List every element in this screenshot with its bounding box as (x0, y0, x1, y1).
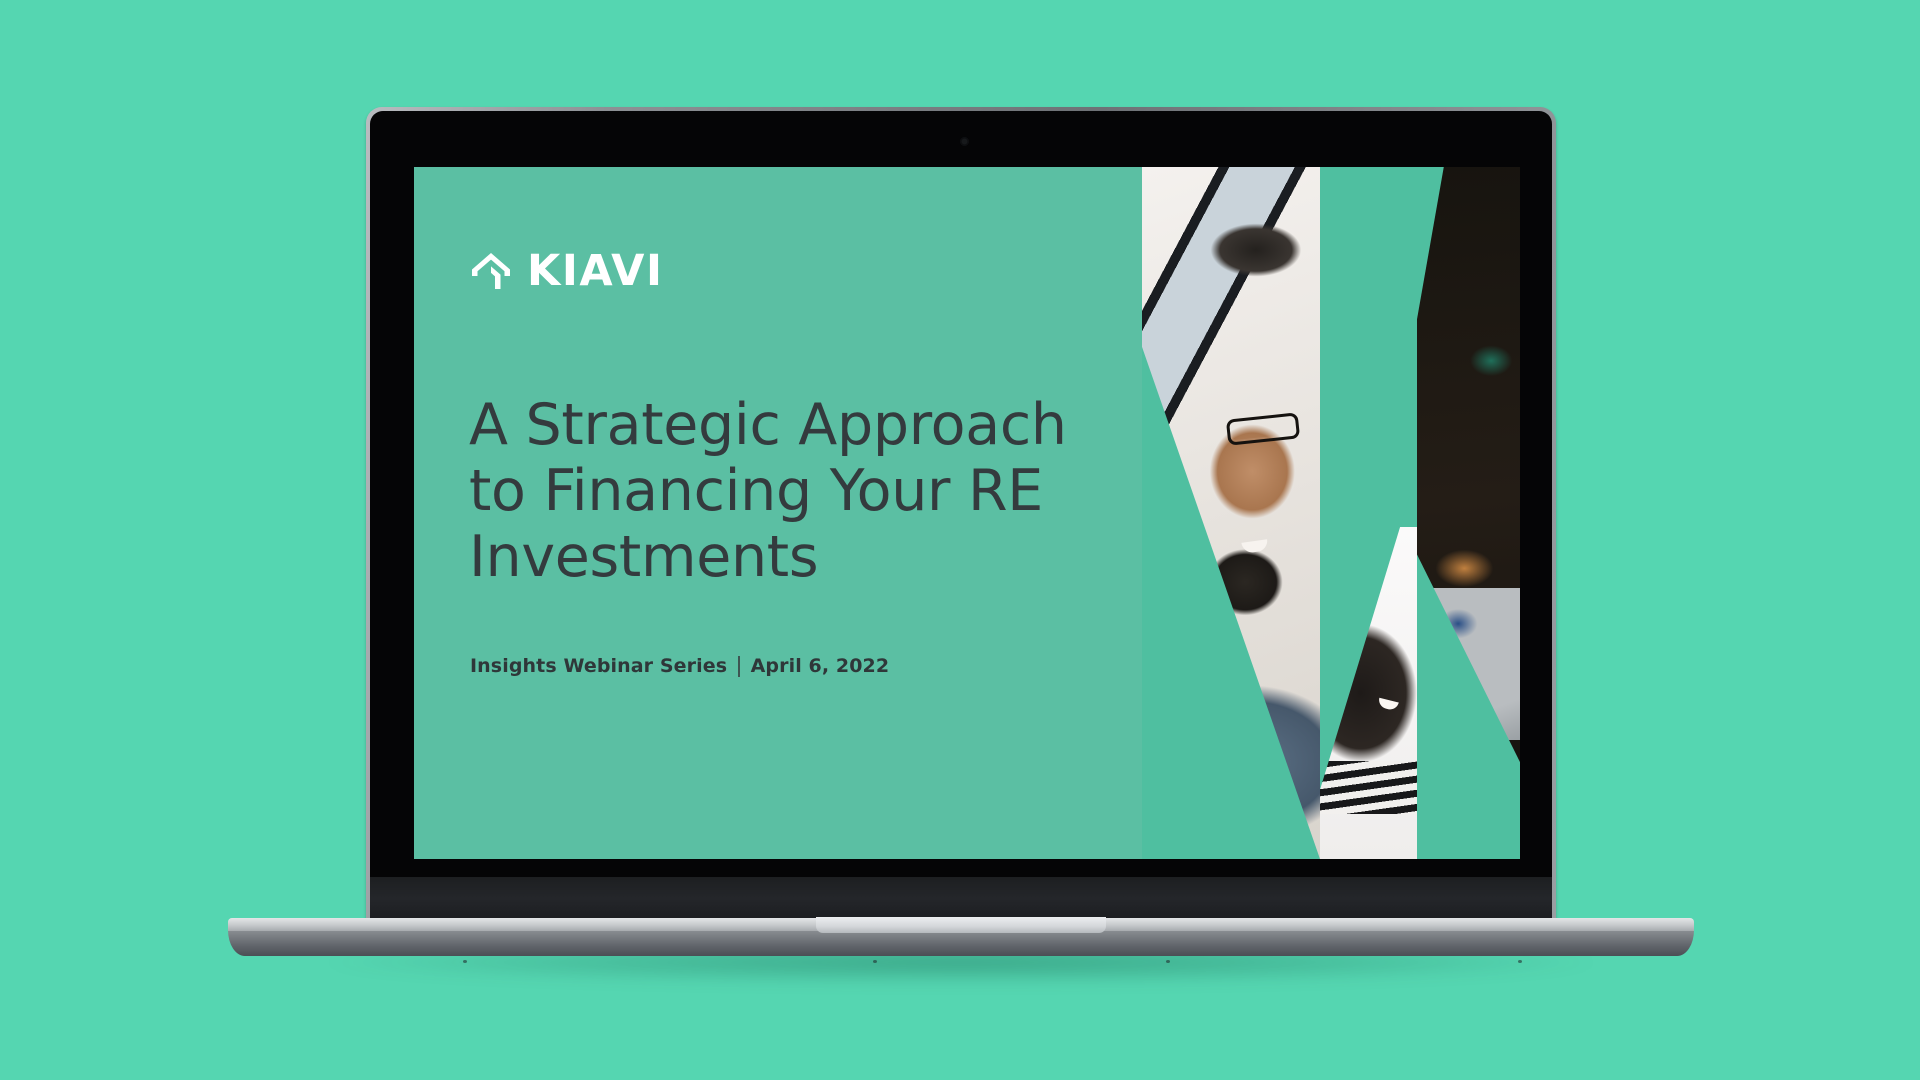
webinar-series-label: Insights Webinar Series (470, 655, 727, 677)
slide-subtitle: Insights Webinar Series April 6, 2022 (470, 655, 889, 677)
laptop-device: KIAVI A Strategic Approach to Financing … (366, 107, 1556, 925)
photo-collage (1142, 167, 1520, 859)
brand-logo: KIAVI (469, 249, 663, 293)
home-icon (469, 249, 513, 293)
webcam-icon (960, 137, 969, 146)
slide-title: A Strategic Approach to Financing Your R… (469, 392, 1109, 590)
screenshot-stage: KIAVI A Strategic Approach to Financing … (0, 0, 1920, 1080)
laptop-base-body (228, 930, 1694, 956)
man-with-tablet-photo (1142, 167, 1320, 859)
laptop-base (228, 918, 1694, 962)
laptop-lid: KIAVI A Strategic Approach to Financing … (366, 107, 1556, 925)
webinar-date-label: April 6, 2022 (751, 655, 890, 677)
subtitle-divider (738, 656, 740, 677)
laptop-screen: KIAVI A Strategic Approach to Financing … (414, 167, 1520, 859)
laptop-bezel: KIAVI A Strategic Approach to Financing … (370, 111, 1552, 925)
slide-text-panel: KIAVI A Strategic Approach to Financing … (414, 167, 1142, 859)
brand-wordmark: KIAVI (527, 250, 663, 293)
laptop-base-top (228, 918, 1694, 931)
base-foot (463, 960, 467, 963)
base-foot (873, 960, 877, 963)
workshop-tools-photo (1417, 167, 1520, 859)
laptop-base-notch (816, 917, 1106, 933)
